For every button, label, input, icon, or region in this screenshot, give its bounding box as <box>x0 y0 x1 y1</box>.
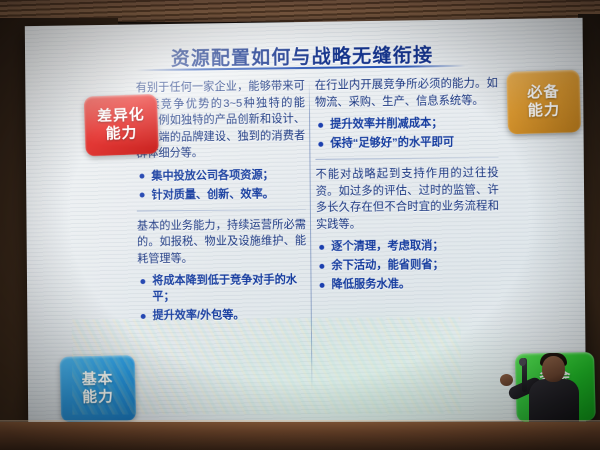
badge-differentiating-capability: 差异化 能力 <box>84 94 159 156</box>
speaker-hand <box>500 374 513 386</box>
right-separator <box>315 157 498 160</box>
desk-surface <box>0 422 600 450</box>
list-item: 针对质量、创新、效率。 <box>137 185 306 203</box>
right-bottom-bullets: 逐个清理，考虑取消； 余下活动，能省则省； 降低服务水准。 <box>316 237 500 293</box>
left-bottom-paragraph: 基本的业务能力，持续运营所必需的。如报税、物业及设施维护、能耗管理等。 <box>137 216 306 267</box>
badge-line-1: 基本 <box>82 371 114 390</box>
column-right: 在行业内开展竞争所必须的能力。如物流、采购、生产、信息系统等。 提升效率并削减成… <box>315 75 501 396</box>
list-item: 提升效率/外包等。 <box>138 307 307 324</box>
left-bottom-bullets: 将成本降到低于竞争对手的水平； 提升效率/外包等。 <box>137 272 307 324</box>
column-divider <box>309 80 313 392</box>
list-item: 将成本降到低于竞争对手的水平； <box>137 272 306 305</box>
presentation-photo: 资源配置如何与战略无缝衔接 有别于任何一家企业，能够带来可持续竞争优势的3~5种… <box>0 0 600 450</box>
left-separator <box>137 208 306 211</box>
left-top-bullets: 集中投放公司各项资源； 针对质量、创新、效率。 <box>136 166 305 203</box>
list-item: 降低服务水准。 <box>316 276 499 293</box>
left-top-paragraph: 有别于任何一家企业，能够带来可持续竞争优势的3~5种独特的能力。例如独特的产品创… <box>136 78 306 162</box>
badge-basic-capability: 基本 能力 <box>60 355 137 422</box>
list-item: 余下活动，能省则省； <box>316 257 499 274</box>
badge-line-1: 必备 <box>527 83 560 102</box>
badge-line-2: 能力 <box>105 125 137 144</box>
list-item: 集中投放公司各项资源； <box>136 166 305 184</box>
speaker-head <box>542 356 565 382</box>
microphone-icon <box>522 358 527 392</box>
microphone-head <box>519 358 526 366</box>
badge-essential-capability: 必备 能力 <box>506 70 581 135</box>
badge-line-1: 差异化 <box>97 106 145 126</box>
badge-line-2: 能力 <box>82 388 114 407</box>
list-item: 提升效率并削减成本； <box>315 115 498 133</box>
right-bottom-paragraph: 不能对战略起到支持作用的过往投资。如过多的评估、过时的监管、许多长久存在但不合时… <box>316 165 500 233</box>
list-item: 逐个清理，考虑取消； <box>316 237 499 255</box>
badge-line-2: 能力 <box>527 102 560 121</box>
right-top-paragraph: 在行业内开展竞争所必须的能力。如物流、采购、生产、信息系统等。 <box>315 75 498 110</box>
projection-screen: 资源配置如何与战略无缝衔接 有别于任何一家企业，能够带来可持续竞争优势的3~5种… <box>25 18 586 423</box>
slide: 资源配置如何与战略无缝衔接 有别于任何一家企业，能够带来可持续竞争优势的3~5种… <box>25 18 586 423</box>
right-top-bullets: 提升效率并削减成本； 保持“足够好”的水平即可 <box>315 115 498 152</box>
column-left: 有别于任何一家企业，能够带来可持续竞争优势的3~5种独特的能力。例如独特的产品创… <box>136 78 308 397</box>
list-item: 保持“足够好”的水平即可 <box>315 134 498 152</box>
